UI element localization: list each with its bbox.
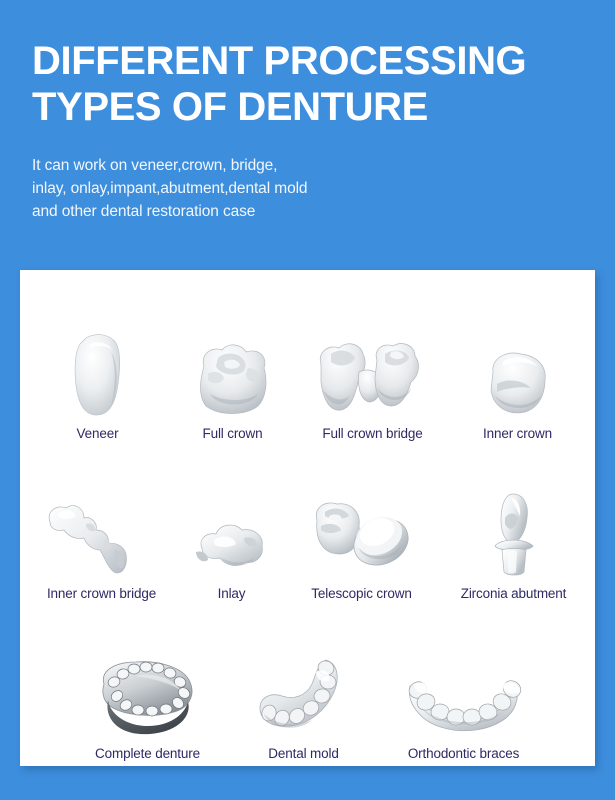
full-crown-icon — [188, 328, 278, 420]
product-gallery-card: Veneer — [20, 270, 595, 766]
page-root: DIFFERENT PROCESSING TYPES OF DENTURE It… — [0, 0, 615, 800]
gallery-item-label: Zirconia abutment — [461, 586, 567, 602]
gallery-item-full-crown[interactable]: Full crown — [168, 282, 298, 442]
inner-crown-bridge-icon — [42, 488, 162, 580]
complete-denture-icon — [90, 648, 206, 740]
gallery-rows: Veneer — [20, 270, 595, 766]
orthodontic-braces-icon — [402, 648, 526, 740]
telescopic-crown-icon — [307, 488, 417, 580]
gallery-item-telescopic-crown[interactable]: Telescopic crown — [286, 442, 438, 602]
inlay-icon — [192, 488, 272, 580]
gallery-row: Veneer — [20, 282, 595, 442]
gallery-item-label: Telescopic crown — [311, 586, 411, 602]
gallery-item-label: Full crown bridge — [322, 426, 422, 442]
gallery-row: Inner crown bridge — [20, 442, 595, 602]
zirconia-abutment-icon — [483, 488, 545, 580]
gallery-item-label: Complete denture — [95, 746, 200, 762]
gallery-item-veneer[interactable]: Veneer — [28, 282, 168, 442]
gallery-item-label: Dental mold — [268, 746, 338, 762]
gallery-item-complete-denture[interactable]: Complete denture — [62, 602, 234, 762]
page-title: DIFFERENT PROCESSING TYPES OF DENTURE — [32, 38, 562, 130]
gallery-item-label: Inner crown bridge — [47, 586, 156, 602]
gallery-item-label: Inlay — [218, 586, 246, 602]
gallery-item-orthodontic-braces[interactable]: Orthodontic braces — [374, 602, 554, 762]
gallery-item-label: Full crown — [202, 426, 262, 442]
inner-crown-icon — [479, 328, 557, 420]
header: DIFFERENT PROCESSING TYPES OF DENTURE It… — [32, 38, 562, 223]
gallery-item-zirconia-abutment[interactable]: Zirconia abutment — [438, 442, 590, 602]
gallery-item-dental-mold[interactable]: Dental mold — [234, 602, 374, 762]
page-subtitle: It can work on veneer,crown, bridge, inl… — [32, 154, 562, 223]
gallery-item-inlay[interactable]: Inlay — [178, 442, 286, 602]
gallery-item-full-crown-bridge[interactable]: Full crown bridge — [298, 282, 448, 442]
gallery-item-inner-crown-bridge[interactable]: Inner crown bridge — [26, 442, 178, 602]
dental-mold-icon — [254, 648, 354, 740]
gallery-item-label: Veneer — [77, 426, 119, 442]
veneer-icon — [66, 328, 130, 420]
gallery-item-label: Orthodontic braces — [408, 746, 519, 762]
gallery-item-inner-crown[interactable]: Inner crown — [448, 282, 588, 442]
gallery-item-label: Inner crown — [483, 426, 552, 442]
gallery-row: Complete denture — [20, 602, 595, 762]
full-crown-bridge-icon — [311, 328, 435, 420]
